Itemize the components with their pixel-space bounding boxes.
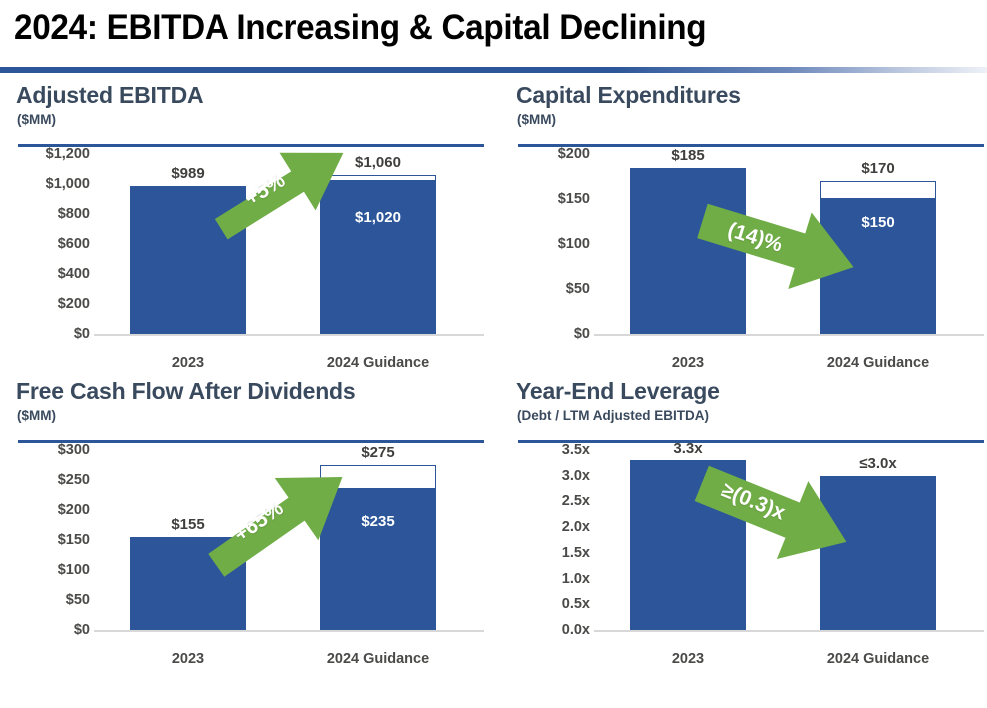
bar-2023[interactable] — [130, 537, 246, 630]
y-tick: $300 — [8, 442, 90, 458]
x-category-label: 2023 — [588, 651, 788, 667]
bar-group-2024-guidance[interactable]: $1,060 $1,020 — [320, 154, 436, 334]
bar-value-label-low: $235 — [320, 513, 436, 530]
chart-panel-free-cash-flow: Free Cash Flow After Dividends ($MM) $30… — [8, 378, 490, 673]
y-tick: $0 — [8, 326, 90, 342]
chart-panel-capital-expenditures: Capital Expenditures ($MM) $200 $150 $10… — [508, 82, 987, 377]
chart-subtitle: ($MM) — [17, 112, 56, 127]
bar-2023[interactable] — [130, 186, 246, 334]
x-axis-baseline — [594, 630, 984, 632]
x-category-label: 2024 Guidance — [778, 651, 978, 667]
bar-group-2023[interactable]: $185 — [630, 154, 746, 334]
y-tick: 2.5x — [508, 493, 590, 509]
bar-value-label: $155 — [90, 516, 286, 533]
y-tick: 1.5x — [508, 545, 590, 561]
bar-value-label: 3.3x — [590, 440, 786, 457]
y-axis-ticks: $200 $150 $100 $50 $0 — [508, 154, 590, 334]
bar-group-2024-guidance[interactable]: $170 $150 — [820, 154, 936, 334]
chart-panel-adjusted-ebitda: Adjusted EBITDA ($MM) $1,200 $1,000 $800… — [8, 82, 490, 377]
chart-title: Adjusted EBITDA — [16, 82, 203, 109]
x-category-label: 2023 — [588, 355, 788, 371]
bar-2023[interactable] — [630, 460, 746, 630]
bar-2024-guidance[interactable] — [320, 181, 436, 334]
y-tick: 3.0x — [508, 468, 590, 484]
y-tick: $150 — [8, 532, 90, 548]
y-tick: $200 — [508, 146, 590, 162]
bar-group-2023[interactable]: $989 — [130, 154, 246, 334]
plot-area: 3.5x 3.0x 2.5x 2.0x 1.5x 1.0x 0.5x 0.0x … — [508, 450, 987, 673]
x-axis-baseline — [94, 334, 484, 336]
chart-subtitle: ($MM) — [517, 112, 556, 127]
x-category-label: 2024 Guidance — [778, 355, 978, 371]
y-tick: $0 — [508, 326, 590, 342]
y-tick: $100 — [508, 236, 590, 252]
y-tick: $800 — [8, 206, 90, 222]
bar-value-label: ≤3.0x — [780, 455, 976, 472]
x-category-label: 2024 Guidance — [278, 355, 478, 371]
y-tick: 3.5x — [508, 442, 590, 458]
bar-value-label-low: $1,020 — [320, 209, 436, 226]
y-tick: $1,000 — [8, 176, 90, 192]
x-category-label: 2023 — [88, 651, 288, 667]
bar-value-label: $989 — [90, 165, 286, 182]
x-axis-baseline — [594, 334, 984, 336]
y-tick: $250 — [8, 472, 90, 488]
page-title: 2024: EBITDA Increasing & Capital Declin… — [14, 8, 926, 48]
bar-value-label: $185 — [590, 147, 786, 164]
bar-value-label-high: $170 — [780, 160, 976, 177]
plot-area: $300 $250 $200 $150 $100 $50 $0 $155 $27… — [8, 450, 490, 673]
y-axis-ticks: $1,200 $1,000 $800 $600 $400 $200 $0 — [8, 154, 90, 334]
y-tick: $0 — [8, 622, 90, 638]
x-category-label: 2023 — [88, 355, 288, 371]
bar-value-label-high: $275 — [280, 444, 476, 461]
chart-subtitle: ($MM) — [17, 408, 56, 423]
y-tick: 1.0x — [508, 571, 590, 587]
chart-panel-year-end-leverage: Year-End Leverage (Debt / LTM Adjusted E… — [508, 378, 987, 673]
bar-2024-guidance[interactable] — [320, 489, 436, 630]
plot-area: $1,200 $1,000 $800 $600 $400 $200 $0 $98… — [8, 154, 490, 377]
y-tick: 0.5x — [508, 596, 590, 612]
title-divider — [0, 67, 987, 73]
y-axis-ticks: 3.5x 3.0x 2.5x 2.0x 1.5x 1.0x 0.5x 0.0x — [508, 450, 590, 630]
y-tick: $200 — [8, 296, 90, 312]
bar-2023[interactable] — [630, 168, 746, 334]
bar-range-band-2024[interactable] — [820, 181, 936, 199]
chart-title: Free Cash Flow After Dividends — [16, 378, 356, 405]
y-tick: $50 — [508, 281, 590, 297]
bar-value-label-low: $150 — [820, 214, 936, 231]
x-axis-baseline — [94, 630, 484, 632]
y-tick: $200 — [8, 502, 90, 518]
bar-2024-guidance[interactable] — [820, 476, 936, 630]
bar-group-2023[interactable]: 3.3x — [630, 450, 746, 630]
y-tick: $150 — [508, 191, 590, 207]
chart-title: Capital Expenditures — [516, 82, 741, 109]
plot-area: $200 $150 $100 $50 $0 $185 $170 $150 202… — [508, 154, 987, 377]
bar-range-band-2024[interactable] — [320, 465, 436, 489]
y-axis-ticks: $300 $250 $200 $150 $100 $50 $0 — [8, 450, 90, 630]
y-tick: $1,200 — [8, 146, 90, 162]
bar-value-label-high: $1,060 — [280, 154, 476, 171]
y-tick: $50 — [8, 592, 90, 608]
chart-title: Year-End Leverage — [516, 378, 720, 405]
y-tick: 2.0x — [508, 519, 590, 535]
bar-group-2023[interactable]: $155 — [130, 450, 246, 630]
bar-group-2024-guidance[interactable]: $275 $235 — [320, 450, 436, 630]
y-tick: $400 — [8, 266, 90, 282]
x-category-label: 2024 Guidance — [278, 651, 478, 667]
chart-subtitle: (Debt / LTM Adjusted EBITDA) — [517, 408, 709, 423]
y-tick: $600 — [8, 236, 90, 252]
bar-group-2024-guidance[interactable]: ≤3.0x — [820, 450, 936, 630]
y-tick: 0.0x — [508, 622, 590, 638]
y-tick: $100 — [8, 562, 90, 578]
